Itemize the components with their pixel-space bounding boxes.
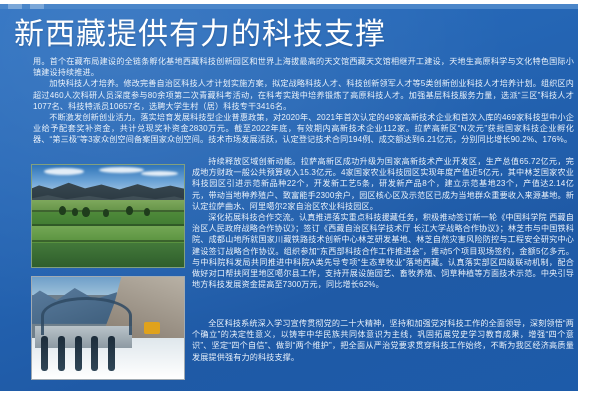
article-panel: 新西藏提供有力的科技支撑 用。首个在藏布局建设的全链条孵化基地西藏科技创新园区和…	[0, 4, 578, 391]
paragraph: 加快科技人才培养。修改完善自治区科技人才计划实施方案，拟定战略科技人才、科技创新…	[33, 78, 574, 112]
paragraph: 深化拓展科技合作交流。认真推进落实重点科技援藏任务，积极推动签订新一轮《中国科学…	[192, 212, 574, 290]
paragraph: 不断激发创新创业活力。落实培育发展科技型企业普惠政策，对2020年、2021年首…	[33, 112, 574, 146]
document-page: 新西藏提供有力的科技支撑 用。首个在藏布局建设的全链条孵化基地西藏科技创新园区和…	[0, 0, 600, 400]
paragraph: 用。首个在藏布局建设的全链条孵化基地西藏科技创新园区和世界上海拔最高的天文馆西藏…	[33, 56, 574, 78]
arch-bridge	[41, 297, 132, 335]
body-column-top: 用。首个在藏布局建设的全链条孵化基地西藏科技创新园区和世界上海拔最高的天文馆西藏…	[33, 56, 574, 146]
tibet-farmland-photo: 西藏农田与山脉风景照片	[31, 164, 185, 268]
hydropower-dam-photo: 峡谷水电站大坝照片	[31, 276, 185, 380]
page-top-strip	[0, 4, 578, 9]
body-column-bottom: 全区科技系统深入学习宣传贯彻党的二十大精神，坚持和加强党对科技工作的全面领导，深…	[192, 318, 574, 363]
paragraph: 持续释放区域创新动能。拉萨高新区成功升级为国家高新技术产业开发区，生产总值65.…	[192, 156, 574, 212]
construction-machine	[144, 322, 160, 334]
paragraph: 全区科技系统深入学习宣传贯彻党的二十大精神，坚持和加强党对科技工作的全面领导，深…	[192, 318, 574, 363]
body-column-middle: 持续释放区域创新动能。拉萨高新区成功升级为国家高新技术产业开发区，生产总值65.…	[192, 156, 574, 290]
page-title: 新西藏提供有力的科技支撑	[14, 18, 386, 52]
